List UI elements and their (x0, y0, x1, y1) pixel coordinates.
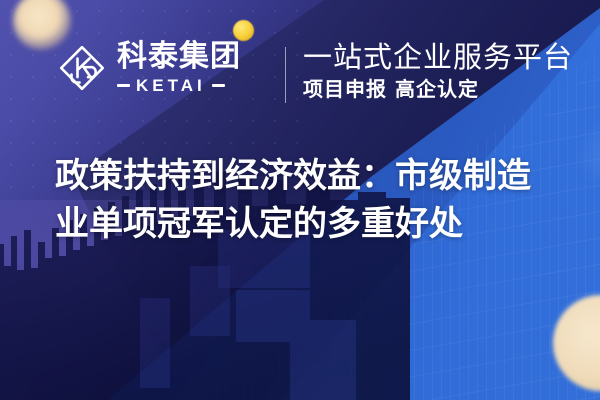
tagline-main: 一站式企业服务平台 (303, 42, 573, 72)
brand-lockup: 科泰集团 KETAI (58, 42, 241, 94)
dash-left-icon (117, 84, 130, 87)
brand-wordmark: 科泰集团 KETAI (117, 42, 241, 94)
gold-dot-icon (233, 20, 254, 41)
brand-name-en-row: KETAI (117, 77, 241, 94)
brand-name-en: KETAI (136, 77, 206, 94)
tagline-block: 一站式企业服务平台 项目申报 高企认定 (303, 42, 573, 99)
ketai-logo-icon (58, 44, 106, 92)
brand-name-cn: 科泰集团 (117, 42, 241, 72)
tagline-sub: 项目申报 高企认定 (303, 79, 573, 99)
dash-right-icon (212, 84, 225, 87)
page-title: 政策扶持到经济效益：市级制造业单项冠军认定的多重好处 (55, 152, 560, 249)
vertical-divider (285, 47, 286, 103)
promo-banner: 科泰集团 KETAI 一站式企业服务平台 项目申报 高企认定 政策扶持到经济效益… (0, 0, 600, 400)
